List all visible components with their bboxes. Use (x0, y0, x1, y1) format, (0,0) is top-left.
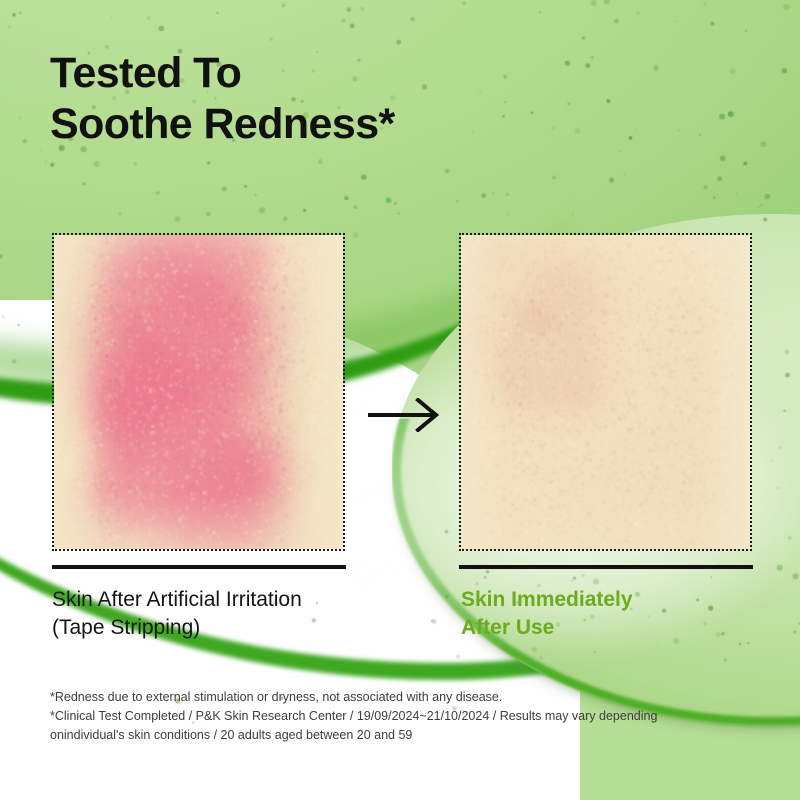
before-caption-rule (52, 565, 346, 569)
disclaimer-text: *Redness due to external stimulation or … (50, 688, 762, 745)
before-photo-frame (52, 233, 345, 551)
after-caption-rule (459, 565, 753, 569)
after-photo-frame (459, 233, 752, 551)
marketing-image: Tested To Soothe Redness* Skin After Art… (0, 0, 800, 800)
arrow-right-icon (368, 398, 444, 432)
before-caption: Skin After Artificial Irritation (Tape S… (52, 586, 302, 642)
skin-photo-soothed (461, 235, 750, 549)
skin-photo-irritated (54, 235, 343, 549)
page-title: Tested To Soothe Redness* (50, 48, 395, 149)
after-caption: Skin Immediately After Use (461, 586, 633, 642)
